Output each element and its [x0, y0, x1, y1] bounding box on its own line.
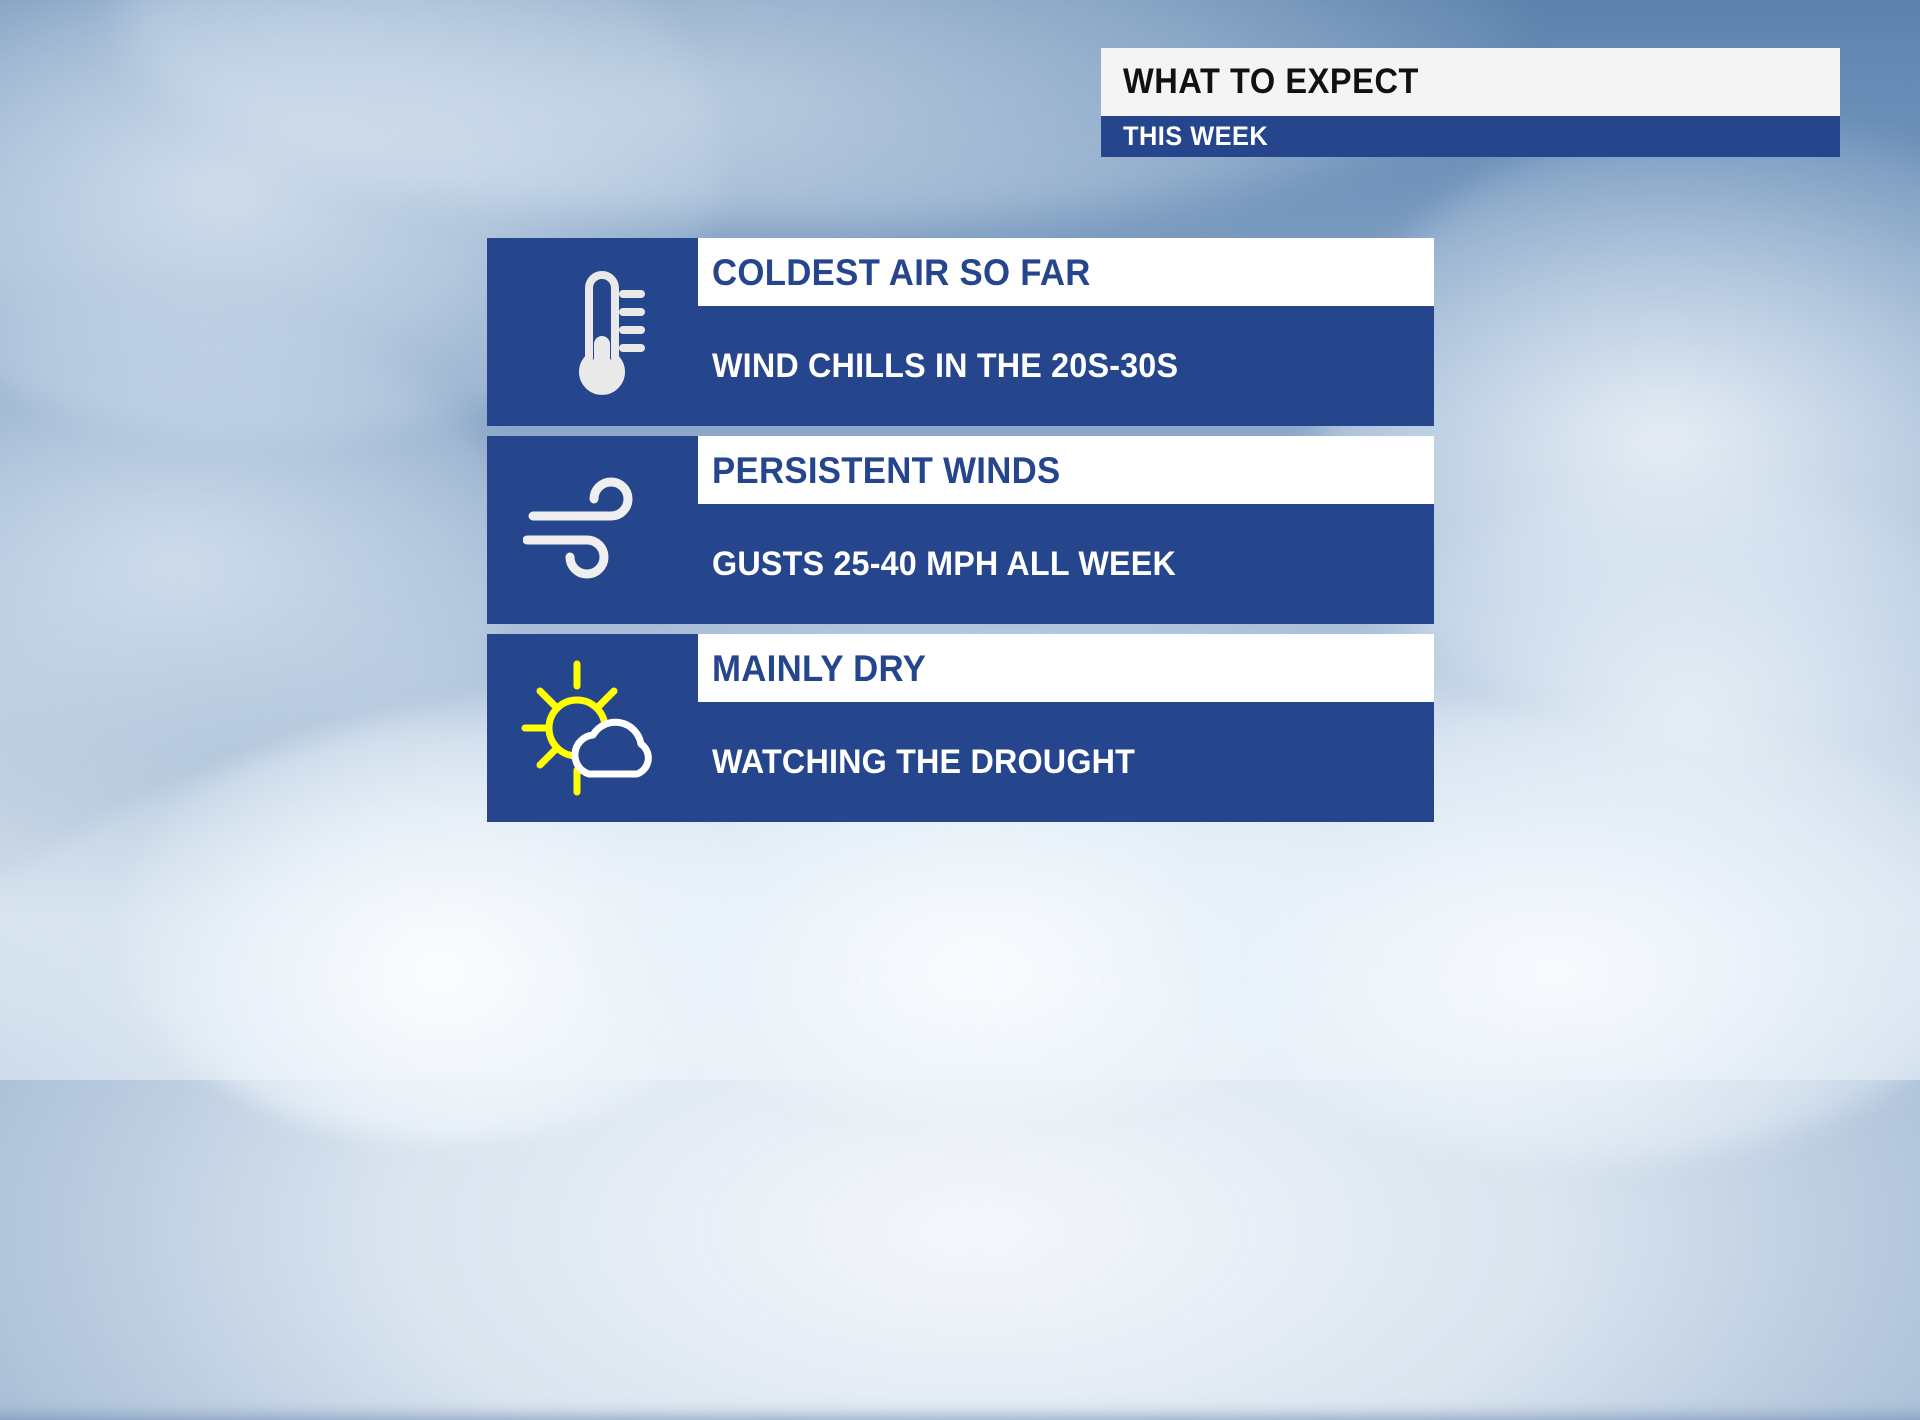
page-title: WHAT TO EXPECT [1123, 62, 1419, 102]
card-title: COLDEST AIR SO FAR [712, 254, 1091, 291]
card-text-column: COLDEST AIR SO FAR WIND CHILLS IN THE 20… [698, 238, 1434, 426]
header-banner: WHAT TO EXPECT THIS WEEK [1101, 48, 1840, 157]
card-text-column: MAINLY DRY WATCHING THE DROUGHT [698, 634, 1434, 822]
list-item: PERSISTENT WINDS GUSTS 25-40 MPH ALL WEE… [487, 436, 1434, 624]
list-item: COLDEST AIR SO FAR WIND CHILLS IN THE 20… [487, 238, 1434, 426]
forecast-highlight-list: COLDEST AIR SO FAR WIND CHILLS IN THE 20… [487, 238, 1434, 822]
sun-cloud-icon [519, 658, 667, 798]
cloud-shape [574, 722, 647, 774]
card-text-column: PERSISTENT WINDS GUSTS 25-40 MPH ALL WEE… [698, 436, 1434, 624]
header-title-bar: WHAT TO EXPECT [1101, 48, 1840, 116]
list-item: MAINLY DRY WATCHING THE DROUGHT [487, 634, 1434, 822]
card-subtitle-area: GUSTS 25-40 MPH ALL WEEK [698, 504, 1434, 624]
wind-icon [523, 470, 663, 590]
card-title: PERSISTENT WINDS [712, 452, 1060, 489]
card-icon-column [487, 436, 698, 624]
header-subtitle-bar: THIS WEEK [1101, 116, 1840, 157]
cloud-left-mid [0, 300, 520, 820]
card-subtitle: WIND CHILLS IN THE 20S-30S [712, 349, 1178, 383]
card-subtitle-area: WIND CHILLS IN THE 20S-30S [698, 306, 1434, 426]
card-icon-column [487, 238, 698, 426]
card-subtitle: WATCHING THE DROUGHT [712, 745, 1135, 779]
card-subtitle-area: WATCHING THE DROUGHT [698, 702, 1434, 822]
card-subtitle: GUSTS 25-40 MPH ALL WEEK [712, 547, 1176, 581]
card-title: MAINLY DRY [712, 650, 926, 687]
cloud-left-shadow [0, 620, 560, 950]
thermometer-icon [537, 262, 649, 402]
page-subtitle: THIS WEEK [1123, 121, 1268, 152]
card-title-bar: PERSISTENT WINDS [698, 436, 1434, 504]
card-title-bar: COLDEST AIR SO FAR [698, 238, 1434, 306]
card-icon-column [487, 634, 698, 822]
card-title-bar: MAINLY DRY [698, 634, 1434, 702]
